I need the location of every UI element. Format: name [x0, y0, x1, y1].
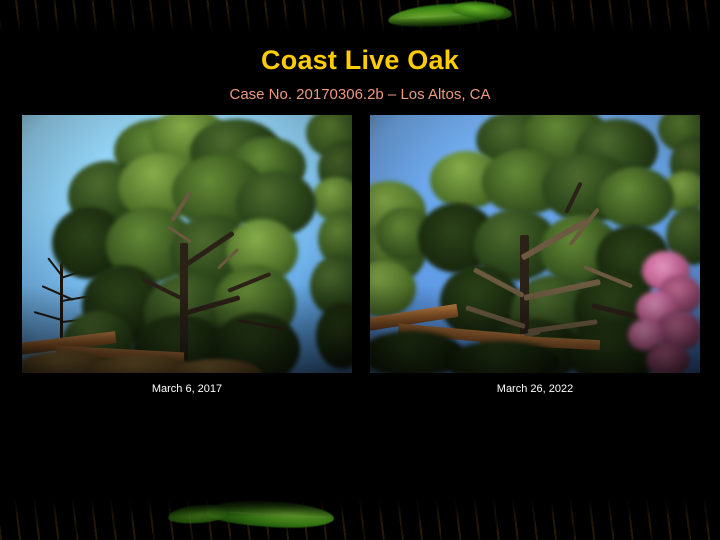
photo-left[interactable]	[22, 115, 352, 373]
slide: Coast Live Oak Case No. 20170306.2b – Lo…	[0, 0, 720, 540]
page-title: Coast Live Oak	[0, 45, 720, 76]
case-subtitle: Case No. 20170306.2b – Los Altos, CA	[0, 86, 720, 103]
photo-right[interactable]	[370, 115, 700, 373]
border-fade-top	[0, 0, 720, 34]
photo-panel-right[interactable]: March 26, 2022	[370, 115, 700, 373]
photo-panel-left[interactable]: March 6, 2017	[22, 115, 352, 373]
top-border-decoration	[0, 0, 720, 34]
border-fade-bottom	[0, 498, 720, 540]
bottom-border-decoration	[0, 498, 720, 540]
photo-caption-right: March 26, 2022	[370, 383, 700, 395]
photo-caption-left: March 6, 2017	[22, 383, 352, 395]
